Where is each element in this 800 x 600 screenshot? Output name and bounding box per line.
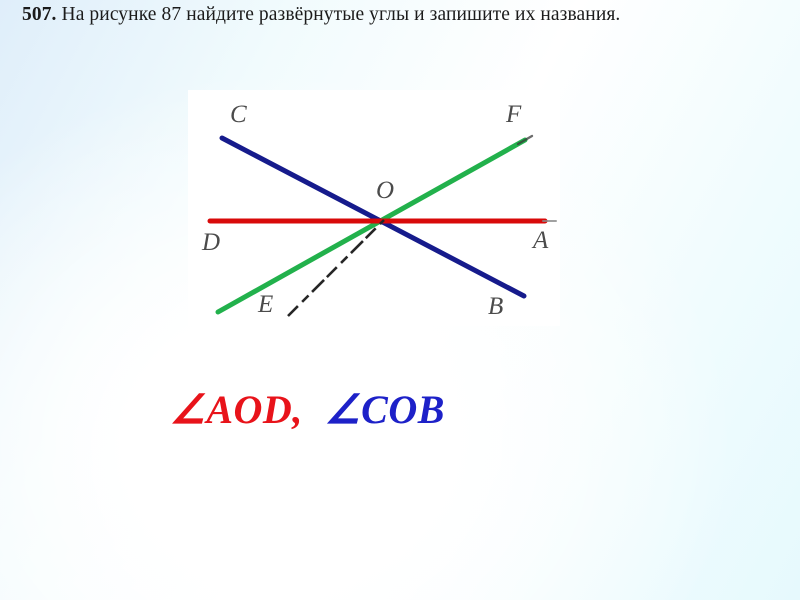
answer-angle-aod: ∠AOD, [170,387,303,432]
problem-statement: 507. На рисунке 87 найдите развёрнутые у… [22,2,782,29]
point-label-C: C [230,102,247,127]
line-EF [218,140,525,312]
answer-angle-cob: ∠COB [325,387,445,432]
point-label-D: D [202,230,220,255]
problem-number: 507. [22,4,57,25]
point-label-A: A [533,228,548,253]
line-CB [222,138,524,296]
point-label-F: F [506,102,521,127]
point-label-B: B [488,294,503,319]
segment-dashed [288,220,384,316]
figure-87: C F O D A E B [188,90,560,326]
answer-line: ∠AOD,∠COB [170,386,445,433]
point-label-E: E [258,292,273,317]
problem-text: На рисунке 87 найдите развёрнутые углы и… [62,4,621,25]
point-label-O: O [376,178,394,203]
slide-canvas: 507. На рисунке 87 найдите развёрнутые у… [0,0,800,600]
